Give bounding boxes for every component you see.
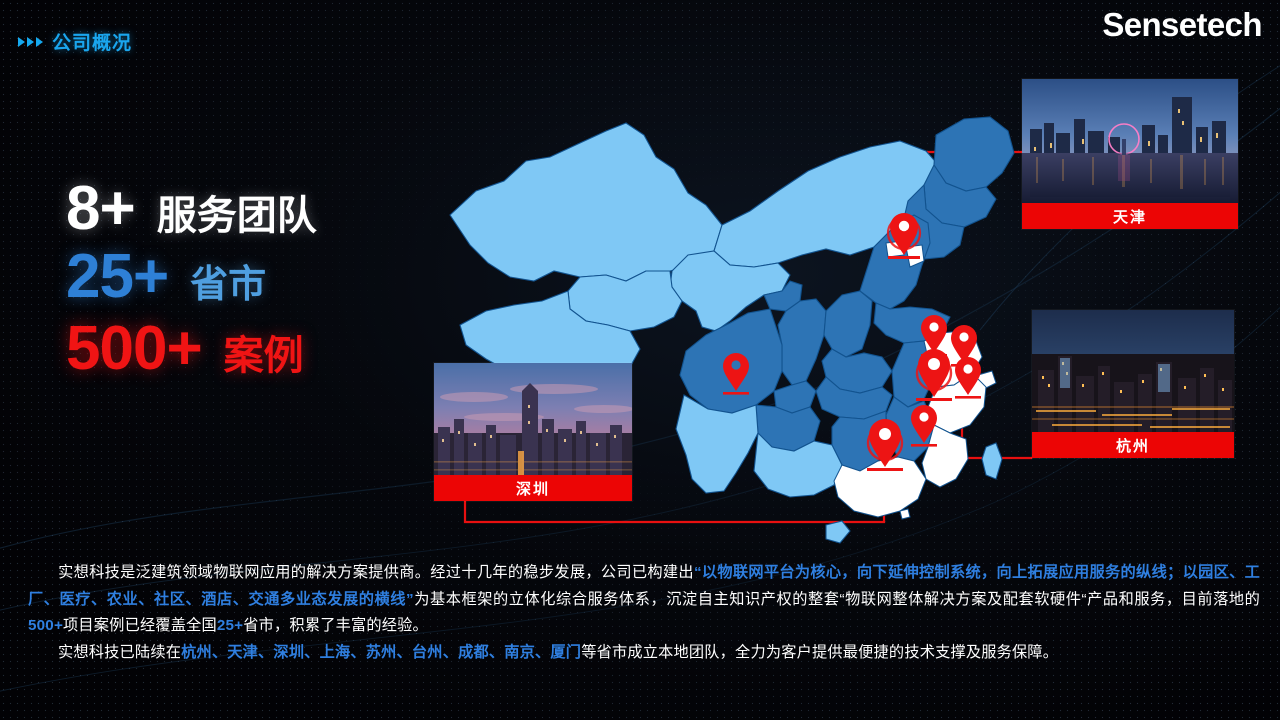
p1-number-provinces: 25+ bbox=[217, 617, 243, 634]
stat-label: 案例 bbox=[224, 336, 304, 376]
stat-number: 500+ bbox=[66, 318, 202, 380]
p2-part-a: 实想科技已陆续在 bbox=[58, 644, 181, 661]
slide-header: 公司概况 Sensetech bbox=[0, 0, 1280, 62]
p1-part-b: 为基本框架的立体化综合服务体系，沉淀自主知识产权的整套“物联网整体解决方案及配套… bbox=[414, 591, 1260, 608]
p1-part-d: 省市，积累了丰富的经验。 bbox=[243, 617, 428, 634]
province-shanxi bbox=[824, 291, 872, 357]
province-heilongjiang bbox=[934, 117, 1014, 191]
city-card-caption: 杭州 bbox=[1032, 432, 1234, 458]
stat-item-cases: 500+ 案例 bbox=[66, 318, 317, 380]
province-taiwan bbox=[982, 443, 1002, 479]
city-card-caption: 天津 bbox=[1022, 203, 1238, 229]
p1-number-cases: 500+ bbox=[28, 617, 63, 634]
body-copy: 实想科技是泛建筑领域物联网应用的解决方案提供商。经过十几年的稳步发展，公司已构建… bbox=[28, 560, 1260, 666]
paragraph-1: 实想科技是泛建筑领域物联网应用的解决方案提供商。经过十几年的稳步发展，公司已构建… bbox=[28, 560, 1260, 640]
province-hainan bbox=[826, 521, 850, 543]
section-title: 公司概况 bbox=[52, 28, 132, 55]
city-card-hangzhou[interactable]: 杭州 bbox=[1032, 310, 1234, 458]
stats-block: 8+ 服务团队 25+ 省市 500+ 案例 bbox=[66, 178, 317, 386]
province-xinjiang bbox=[450, 123, 722, 281]
stat-item-provinces: 25+ 省市 bbox=[66, 246, 317, 308]
city-card-tianjin[interactable]: 天津 bbox=[1022, 79, 1238, 229]
stat-number: 25+ bbox=[66, 246, 168, 308]
city-card-caption: 深圳 bbox=[434, 475, 632, 501]
city-card-shenzhen[interactable]: 深圳 bbox=[434, 363, 632, 501]
p2-part-b: 等省市成立本地团队，全力为客户提供最便捷的技术支撑及服务保障。 bbox=[581, 644, 1058, 661]
p2-city-list: 杭州、天津、深圳、上海、苏州、台州、成都、南京、厦门 bbox=[181, 644, 581, 661]
slide-canvas: 公司概况 Sensetech 8+ 服务团队 25+ 省市 500+ 案例 bbox=[0, 0, 1280, 720]
chevrons-right-icon bbox=[18, 37, 43, 47]
shenzhen-skyline-photo bbox=[434, 363, 632, 475]
stat-label: 服务团队 bbox=[157, 196, 317, 236]
company-logo: Sensetech bbox=[1102, 6, 1262, 44]
paragraph-2: 实想科技已陆续在杭州、天津、深圳、上海、苏州、台州、成都、南京、厦门等省市成立本… bbox=[28, 640, 1260, 667]
tianjin-skyline-photo bbox=[1022, 79, 1238, 203]
stat-number: 8+ bbox=[66, 178, 135, 240]
stat-item-teams: 8+ 服务团队 bbox=[66, 178, 317, 240]
section-tag: 公司概况 bbox=[18, 28, 132, 55]
province-shaanxi bbox=[778, 299, 826, 385]
stat-label: 省市 bbox=[190, 266, 266, 304]
hangzhou-skyline-photo bbox=[1032, 310, 1234, 432]
p1-part-a: 实想科技是泛建筑领域物联网应用的解决方案提供商。经过十几年的稳步发展，公司已构建… bbox=[58, 564, 694, 581]
p1-part-c: 项目案例已经覆盖全国 bbox=[63, 617, 217, 634]
region-hongkong bbox=[900, 509, 910, 519]
